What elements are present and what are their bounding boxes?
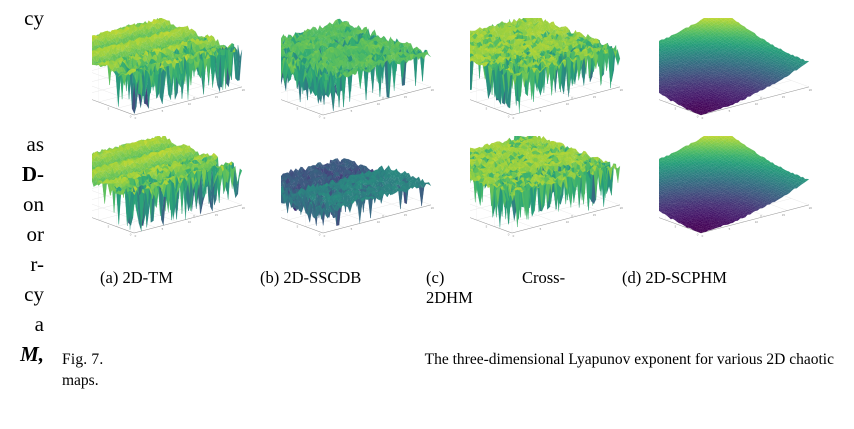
left-text-fragment: a (35, 314, 44, 335)
svg-text:5: 5 (351, 109, 353, 113)
subcaption-d-tag: (d) (622, 268, 641, 287)
page-root: cyasD-onorr-cyaM, -10-8-6-4-20246LE22015… (0, 0, 854, 429)
figure-caption-text: The three-dimensional Lyapunov exponent … (425, 349, 834, 370)
subcaption-c-tag: (c) (426, 268, 522, 288)
svg-text:0: 0 (324, 116, 326, 120)
surface-plot-canvas: -8-6-4-20246LE22015105005101520xy (470, 136, 659, 254)
subcaption-a-tag: (a) (100, 268, 118, 287)
plot-row-bottom: -10-8-6-4-20246LE22015105005101520xy-10-… (92, 136, 848, 254)
svg-text:5: 5 (108, 107, 110, 111)
figure-caption-text-cont: maps. (62, 370, 840, 391)
left-text-fragment: D- (22, 164, 44, 185)
surface-mesh (470, 18, 620, 113)
svg-text:15: 15 (593, 95, 597, 99)
surface-plot-canvas: -8-6-4-20246LE12015105005101520xy (470, 18, 659, 136)
surface-plot-canvas: 0100200300400LE22015105005101520xy (659, 136, 848, 254)
subcaption-c-label2: 2DHM (426, 288, 622, 308)
subcaption-c-label: Cross- (522, 268, 565, 288)
surface-plot-plot-a-bottom: -10-8-6-4-20246LE22015105005101520xy (92, 136, 281, 254)
surface-mesh (92, 18, 242, 113)
surface-plot-plot-d-top: 0100200300400LE12015105005101520xy (659, 18, 848, 136)
svg-text:0: 0 (135, 116, 137, 120)
surface-mesh (470, 136, 620, 228)
plot-row-top: -10-8-6-4-20246LE22015105005101520xy-8-6… (92, 18, 848, 136)
surface-plot-plot-c-top: -8-6-4-20246LE12015105005101520xy (470, 18, 659, 136)
subcaption-c: (c) Cross- 2DHM (426, 268, 622, 308)
surface-plot-plot-d-bottom: 0100200300400LE22015105005101520xy (659, 136, 848, 254)
subcaption-a-label: 2D-TM (122, 268, 172, 287)
svg-text:0: 0 (130, 115, 132, 119)
surface-plot-canvas: -10-8-6-4-20246LE22015105005101520xy (92, 18, 281, 136)
surface-plot-plot-b-top: -8-6-4-20246LE12015105005101520xy (281, 18, 470, 136)
subcaption-row: (a) 2D-TM (b) 2D-SSCDB (c) Cross- 2DHM (… (92, 268, 852, 308)
left-text-fragment: r- (30, 254, 44, 275)
left-text-fragment: as (27, 134, 45, 155)
subcaption-d-label: 2D-SCPHM (645, 268, 727, 287)
svg-text:20: 20 (620, 88, 624, 92)
surface-plot-canvas: -8-6-4-20246LE12015105005101520xy (281, 18, 470, 136)
left-text-fragment: on (23, 194, 44, 215)
svg-text:5: 5 (540, 109, 542, 113)
svg-text:20: 20 (242, 88, 246, 92)
surface-plot-plot-a-top: -10-8-6-4-20246LE22015105005101520xy (92, 18, 281, 136)
subcaption-b-label: 2D-SSCDB (283, 268, 361, 287)
svg-text:5: 5 (162, 109, 164, 113)
subcaption-b-tag: (b) (260, 268, 279, 287)
svg-text:5: 5 (486, 107, 488, 111)
svg-text:10: 10 (377, 102, 381, 106)
subcaption-a: (a) 2D-TM (92, 268, 260, 308)
left-text-column: cyasD-onorr-cyaM, (0, 0, 46, 400)
surface-mesh (281, 19, 431, 111)
svg-text:5: 5 (297, 107, 299, 111)
svg-text:0: 0 (508, 115, 510, 119)
svg-text:20: 20 (431, 88, 435, 92)
left-text-fragment: M, (20, 344, 44, 365)
surface-plot-canvas: -10-8-6-4-2024LE22015105005101520xy (281, 136, 470, 254)
surface-plot-canvas: 0100200300400LE12015105005101520xy (659, 18, 848, 136)
svg-text:15: 15 (215, 95, 219, 99)
figure-caption-label: Fig. 7. (62, 349, 103, 370)
svg-text:10: 10 (188, 102, 192, 106)
left-text-fragment: or (27, 224, 45, 245)
svg-text:10: 10 (566, 102, 570, 106)
svg-text:0: 0 (513, 116, 515, 120)
svg-text:0: 0 (319, 115, 321, 119)
figure-panel-grid: -10-8-6-4-20246LE22015105005101520xy-8-6… (92, 18, 848, 254)
left-text-fragment: cy (24, 8, 44, 29)
surface-plot-plot-c-bottom: -8-6-4-20246LE22015105005101520xy (470, 136, 659, 254)
surface-plot-canvas: -10-8-6-4-20246LE22015105005101520xy (92, 136, 281, 254)
surface-mesh (659, 136, 809, 233)
figure-caption: Fig. 7. The three-dimensional Lyapunov e… (62, 349, 840, 391)
surface-mesh (92, 136, 242, 231)
left-text-fragment: cy (24, 284, 44, 305)
surface-plot-plot-b-bottom: -10-8-6-4-2024LE22015105005101520xy (281, 136, 470, 254)
svg-text:15: 15 (404, 95, 408, 99)
surface-mesh (281, 158, 431, 225)
subcaption-d: (d) 2D-SCPHM (622, 268, 822, 308)
subcaption-b: (b) 2D-SSCDB (260, 268, 426, 308)
surface-mesh (659, 18, 809, 115)
